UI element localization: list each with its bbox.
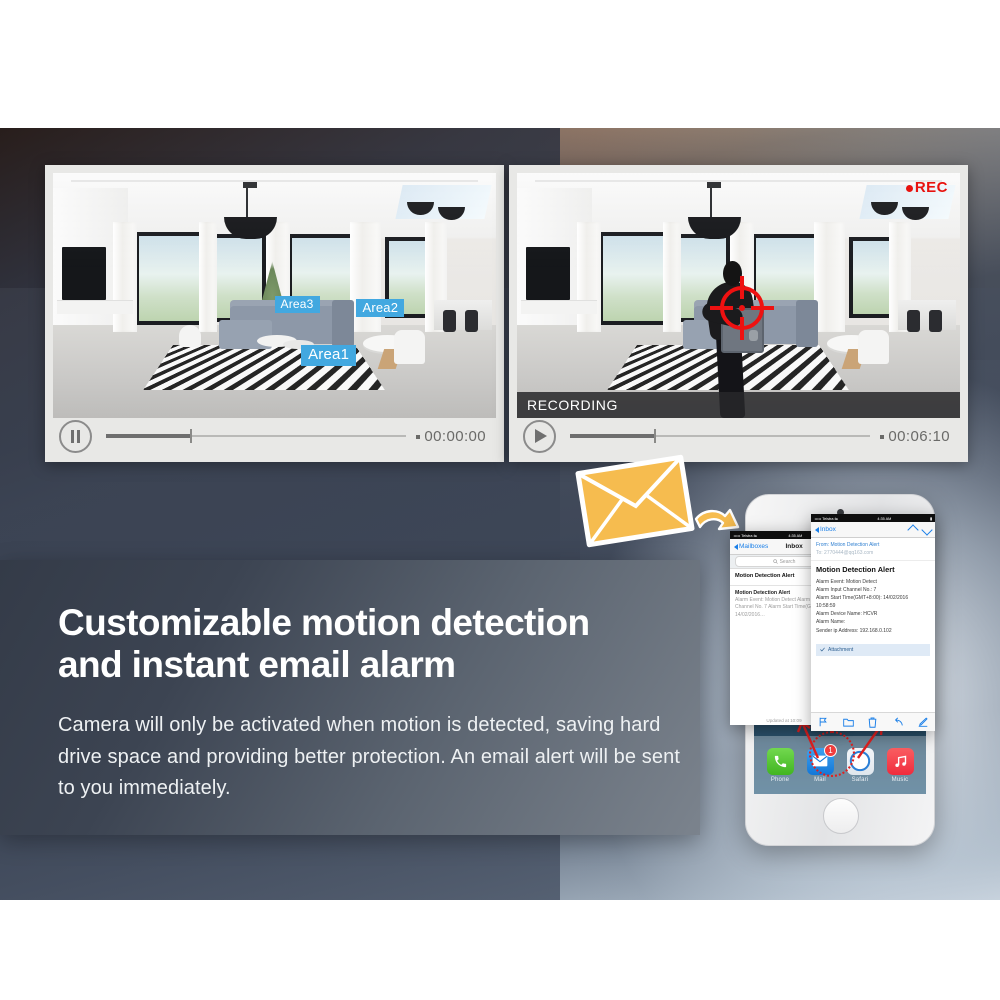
- mail-subject-heading: Motion Detection Alert: [816, 565, 930, 574]
- progress-handle[interactable]: [190, 429, 192, 443]
- mail-toolbar: [811, 712, 935, 731]
- progress-fill: [570, 434, 654, 438]
- page-title: Customizable motion detection and instan…: [0, 560, 700, 686]
- video-screen-right: REC RECORDING: [517, 173, 960, 418]
- background-bottom-white: [0, 900, 1000, 1000]
- attachment-label: Attachment: [828, 647, 853, 653]
- attachment-icon: [820, 647, 825, 652]
- mail-detail-line: Alarm Device Name: HCVR: [816, 610, 930, 618]
- status-carrier: ••••• Telstra ⇋: [815, 516, 838, 521]
- area-tag-1: Area1: [301, 345, 356, 366]
- dock-label: Phone: [771, 777, 789, 783]
- timecode-left: 00:00:00: [416, 428, 486, 445]
- mail-detail-window: ••••• Telstra ⇋ 4:35 AM ▮ Inbox From: Mo…: [811, 514, 935, 731]
- play-icon[interactable]: [523, 420, 556, 453]
- status-carrier: ••••• Telstra ⇋: [734, 533, 757, 538]
- mail-to: To: 2770444@qq163.com: [816, 550, 930, 556]
- progress-slider[interactable]: [570, 429, 870, 443]
- back-label: Inbox: [820, 526, 836, 533]
- mail-detail-line: Alarm Name:: [816, 618, 930, 626]
- dock-label: Mail: [814, 777, 826, 783]
- trash-icon[interactable]: [868, 717, 877, 728]
- back-to-inbox-button[interactable]: Inbox: [815, 526, 836, 533]
- home-button[interactable]: [823, 798, 859, 834]
- message-nav[interactable]: [909, 526, 931, 534]
- feature-text-panel: Customizable motion detection and instan…: [0, 560, 700, 835]
- flag-icon[interactable]: [818, 717, 828, 727]
- back-button[interactable]: Mailboxes: [734, 543, 768, 550]
- player-controls-right: 00:06:10: [517, 418, 960, 454]
- chevron-left-icon: [815, 527, 819, 533]
- video-screen-left: Area3 Area2 Area1: [53, 173, 496, 418]
- folder-icon[interactable]: [843, 717, 854, 727]
- mail-detail-statusbar: ••••• Telstra ⇋ 4:35 AM ▮: [811, 514, 935, 522]
- chevron-up-icon[interactable]: [907, 524, 918, 535]
- status-battery: ▮: [930, 516, 932, 521]
- search-icon: [773, 559, 778, 564]
- back-label: Mailboxes: [739, 543, 768, 550]
- mail-detail-line: 10:58:59: [816, 602, 930, 610]
- mail-detail-line: Alarm Start Time(GMT+8:00): 14/02/2016: [816, 594, 930, 602]
- headline-line-2: and instant email alarm: [58, 644, 455, 685]
- video-player-left: Area3 Area2 Area1 00:00:00: [45, 165, 504, 462]
- reply-icon[interactable]: [892, 717, 903, 727]
- mail-detail-navbar: Inbox: [811, 522, 935, 538]
- chevron-down-icon[interactable]: [921, 524, 932, 535]
- compose-icon[interactable]: [918, 717, 928, 727]
- search-placeholder: Search: [780, 559, 796, 565]
- mail-detail-line: Alarm Event: Motion Detect: [816, 578, 930, 586]
- scene-highlight: [517, 173, 960, 418]
- mail-detail-line: Sender ip Address: 192.168.0.102: [816, 627, 930, 635]
- player-controls-left: 00:00:00: [53, 418, 496, 454]
- background-top-white: [0, 0, 1000, 128]
- mail-body: Motion Detection Alert Alarm Event: Moti…: [811, 561, 935, 639]
- living-room-scene: [517, 173, 960, 418]
- chevron-left-icon: [734, 544, 738, 550]
- promo-graphic: Area3 Area2 Area1 00:00:00: [0, 0, 1000, 1000]
- mailbox-title: Inbox: [785, 543, 802, 550]
- rec-indicator: REC: [906, 179, 948, 196]
- progress-slider[interactable]: [106, 429, 406, 443]
- status-time: 4:35 AM: [788, 533, 802, 538]
- mail-from: From: Motion Detection Alert: [816, 542, 930, 548]
- recording-status-bar: RECORDING: [517, 392, 960, 418]
- progress-handle[interactable]: [654, 429, 656, 443]
- feature-description: Camera will only be activated when motio…: [0, 686, 700, 804]
- status-time: 4:35 AM: [877, 516, 891, 521]
- video-player-right: REC RECORDING 00:06:10: [509, 165, 968, 462]
- dock-label: Safari: [852, 777, 869, 783]
- dock-label: Music: [892, 777, 909, 783]
- timecode-right: 00:06:10: [880, 428, 950, 445]
- mail-detail-line: Alarm Input Channel No.: 7: [816, 586, 930, 594]
- mail-header: From: Motion Detection Alert To: 2770444…: [811, 538, 935, 561]
- pause-icon[interactable]: [59, 420, 92, 453]
- area-tag-3: Area3: [275, 296, 320, 313]
- headline-line-1: Customizable motion detection: [58, 602, 589, 643]
- progress-fill: [106, 434, 190, 438]
- attachment-row[interactable]: Attachment: [816, 644, 930, 656]
- area-tag-2: Area2: [356, 299, 404, 317]
